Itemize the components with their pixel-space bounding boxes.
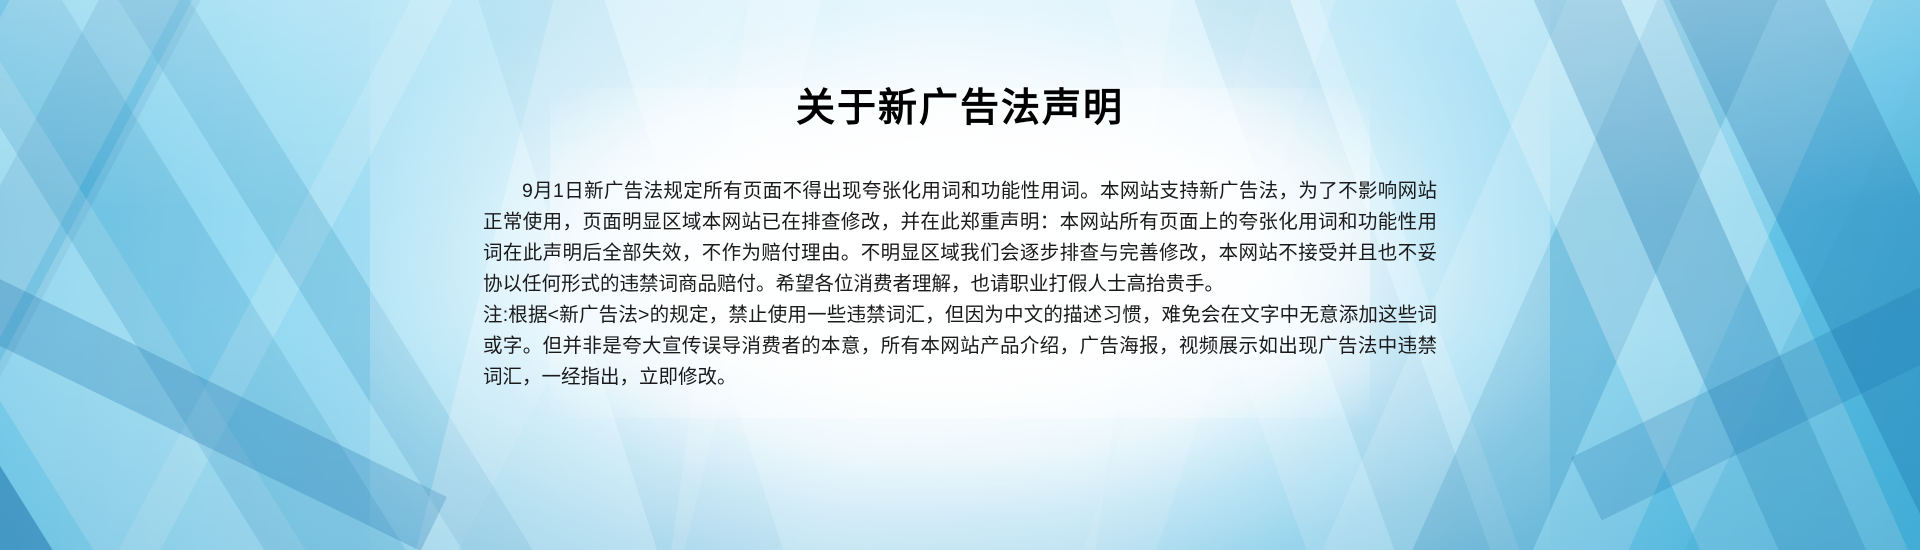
banner-content: 关于新广告法声明 9月1日新广告法规定所有页面不得出现夸张化用词和功能性用词。本…	[0, 0, 1920, 550]
statement-body: 9月1日新广告法规定所有页面不得出现夸张化用词和功能性用词。本网站支持新广告法，…	[483, 176, 1437, 393]
statement-paragraph-1: 9月1日新广告法规定所有页面不得出现夸张化用词和功能性用词。本网站支持新广告法，…	[483, 176, 1437, 300]
advertising-law-statement-banner: 关于新广告法声明 9月1日新广告法规定所有页面不得出现夸张化用词和功能性用词。本…	[0, 0, 1920, 550]
page-title: 关于新广告法声明	[796, 88, 1124, 131]
statement-paragraph-2: 注:根据<新广告法>的规定，禁止使用一些违禁词汇，但因为中文的描述习惯，难免会在…	[483, 300, 1437, 393]
